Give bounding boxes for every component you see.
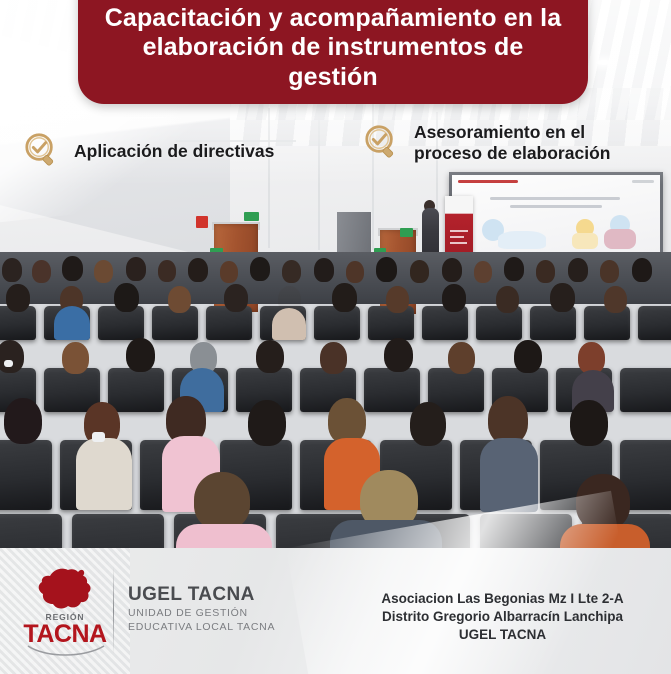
seat: [584, 306, 630, 340]
attendee-head: [550, 283, 575, 312]
rollup-text-line: [450, 242, 467, 244]
poster-root: Capacitación y acompañamiento en la elab…: [0, 0, 671, 674]
attendee-head: [384, 338, 413, 372]
feature-label: Aplicación de directivas: [74, 141, 274, 162]
attendee-head: [514, 340, 542, 373]
attendee-head: [536, 260, 555, 283]
slide-text-line: [510, 205, 602, 208]
attendee-head: [410, 260, 429, 283]
face-mask: [92, 432, 105, 442]
attendee-head: [224, 284, 248, 312]
attendee-head: [488, 396, 528, 444]
attendee-head: [158, 260, 176, 282]
attendee-head: [496, 286, 519, 313]
footer-divider: [113, 566, 114, 654]
seat: [314, 306, 360, 340]
seat: [638, 306, 671, 340]
seat: [0, 514, 62, 548]
attendee-head: [62, 256, 83, 281]
seat: [530, 306, 576, 340]
attendee-head: [442, 284, 466, 312]
attendee-head: [568, 258, 588, 282]
seat: [620, 368, 671, 412]
attendee-head: [114, 283, 139, 312]
address-block: Asociacion Las Begonias Mz I Lte 2-A Dis…: [350, 590, 655, 645]
rollup-text-line: [450, 236, 464, 238]
attendee-head: [600, 260, 619, 283]
attendee-body: [54, 306, 90, 340]
organization-title: UGEL TACNA: [128, 584, 275, 606]
attendee-head: [604, 286, 627, 313]
feature-label-line1: Aplicación de directivas: [74, 141, 274, 161]
poster-title: Capacitación y acompañamiento en la elab…: [96, 4, 570, 92]
address-line1: Asociacion Las Begonias Mz I Lte 2-A: [381, 591, 623, 606]
attendee-head: [320, 342, 347, 374]
slide-accent-bar: [458, 180, 518, 183]
attendee-head: [126, 338, 155, 372]
attendee-head: [332, 283, 357, 312]
attendee-head: [632, 258, 652, 282]
feature-label: Asesoramiento en el proceso de elaboraci…: [414, 122, 610, 164]
attendee-head: [448, 342, 475, 374]
attendee-head: [474, 261, 492, 283]
attendee-head: [386, 286, 409, 313]
attendee-head: [442, 258, 462, 282]
magnifier-check-icon: [362, 122, 404, 164]
attendee-body: [480, 438, 538, 512]
attendee-head: [248, 400, 286, 446]
organization-subtitle-line2: EDUCATIVA LOCAL TACNA: [128, 620, 275, 634]
attendee-head: [410, 402, 446, 446]
attendee-head: [94, 260, 113, 283]
feature-label-line1: Asesoramiento en el: [414, 122, 585, 142]
attendee-head: [4, 398, 42, 444]
poster-title-line1: Capacitación y acompañamiento en la: [105, 4, 561, 32]
attendee-head: [168, 286, 191, 313]
address-line2: Distrito Gregorio Albarracín Lanchipa: [382, 609, 623, 624]
fire-extinguisher-sign: [196, 216, 208, 228]
exit-sign: [400, 228, 413, 237]
exit-sign: [244, 212, 259, 221]
poster-title-line2: elaboración de instrumentos de gestión: [143, 33, 524, 90]
footer-bar: REGIÓN TACNA UGEL TACNA UNIDAD DE GESTIÓ…: [0, 548, 671, 674]
attendee-head: [376, 257, 397, 282]
attendee-head: [188, 258, 208, 282]
attendee-head: [256, 340, 284, 373]
attendee-head: [570, 400, 608, 446]
slide-illustration: [604, 229, 636, 249]
attendee-head: [0, 340, 24, 373]
attendee-body: [76, 438, 132, 510]
attendee-body: [272, 308, 306, 340]
seat: [206, 306, 252, 340]
slide-illustration: [498, 231, 546, 249]
attendee-head: [282, 260, 301, 283]
attendee-head: [346, 261, 364, 283]
magnifier-check-icon: [22, 130, 64, 172]
face-mask: [4, 360, 13, 367]
seat: [476, 306, 522, 340]
feature-list: Aplicación de directivas Asesoramiento e…: [0, 118, 671, 180]
attendee-head: [504, 257, 524, 281]
slide-text-line: [490, 197, 620, 200]
attendee-head: [32, 260, 51, 283]
attendee-head: [6, 284, 30, 312]
address-line3: UGEL TACNA: [459, 627, 546, 642]
ceiling-light: [596, 60, 612, 65]
tacna-map-icon: [34, 566, 96, 612]
attendee-head: [250, 257, 270, 281]
attendee-head: [194, 472, 250, 530]
organization-subtitle-line1: UNIDAD DE GESTIÓN: [128, 606, 275, 620]
attendee-head: [2, 258, 22, 282]
attendee-head: [126, 257, 146, 281]
seat: [108, 368, 164, 412]
attendee-body-pink: [176, 524, 272, 548]
feature-item-aplicacion: Aplicación de directivas: [22, 130, 274, 172]
seat: [422, 306, 468, 340]
organization-block: UGEL TACNA UNIDAD DE GESTIÓN EDUCATIVA L…: [128, 584, 275, 634]
seat: [0, 440, 52, 510]
feature-item-asesoramiento: Asesoramiento en el proceso de elaboraci…: [362, 122, 610, 164]
feature-label-line2: proceso de elaboración: [414, 143, 610, 163]
region-tacna-logo: REGIÓN TACNA: [26, 566, 104, 658]
seat: [72, 514, 164, 548]
header-banner: Capacitación y acompañamiento en la elab…: [78, 0, 588, 104]
slide-illustration: [572, 233, 598, 249]
attendee-head: [314, 258, 334, 282]
seat: [364, 368, 420, 412]
attendee-head: [220, 261, 238, 283]
attendee-head: [62, 342, 89, 374]
rollup-text-line: [450, 230, 468, 232]
logo-swoosh-icon: [26, 644, 106, 658]
slide-accent-bar: [632, 180, 654, 183]
